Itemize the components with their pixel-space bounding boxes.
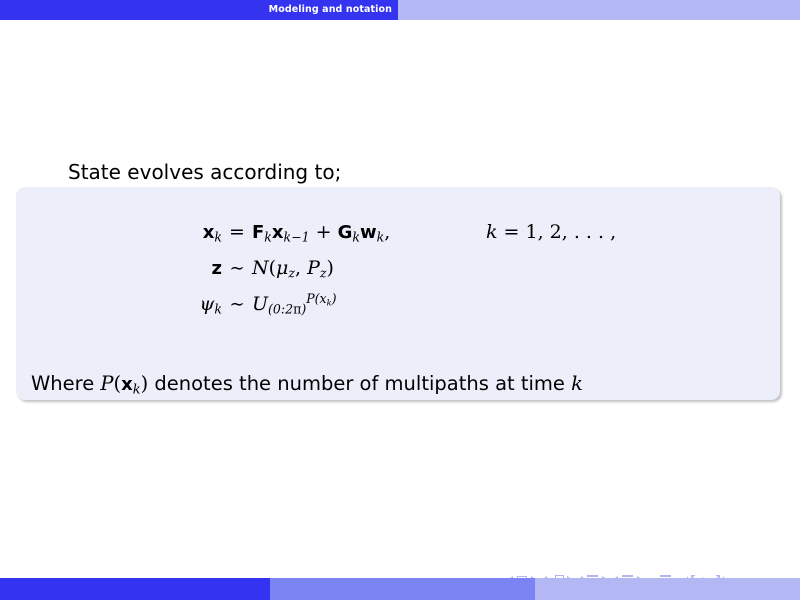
header-title: Modeling and notation [269, 0, 392, 20]
header-right-segment [398, 0, 800, 20]
equation-3-rhs: U(0:2π)P(xk) [252, 293, 337, 315]
equation-1-lhs: xk [16, 221, 222, 243]
slide-header-bar: Modeling and notation [0, 0, 800, 20]
equation-1-relation: = [222, 221, 252, 243]
lead-line: State evolves according to; [68, 160, 341, 184]
where-time-symbol: k [571, 372, 583, 395]
equation-2-relation: ∼ [222, 258, 252, 279]
equation-1-rhs: Fkxk−1 + Gkwk, [252, 221, 390, 243]
where-line: Where P(xk) denotes the number of multip… [31, 372, 583, 395]
slide-body: State evolves according to; xk = Fkxk−1 … [0, 20, 800, 575]
content-block: xk = Fkxk−1 + Gkwk, k = 1, 2, . . . , z … [16, 187, 780, 400]
equation-measurement-distribution: z ∼ N(μz, Pz) [16, 257, 780, 293]
equation-2-rhs: N(μz, Pz) [252, 257, 334, 279]
equation-group: xk = Fkxk−1 + Gkwk, k = 1, 2, . . . , z … [16, 221, 780, 329]
equation-phase-distribution: ψk ∼ U(0:2π)P(xk) [16, 293, 780, 329]
footer-author-segment [0, 578, 270, 600]
footer-date-segment [535, 578, 800, 600]
equation-3-lhs: ψk [16, 293, 222, 315]
equation-state-transition: xk = Fkxk−1 + Gkwk, k = 1, 2, . . . , [16, 221, 780, 257]
where-suffix: denotes the number of multipaths at time [148, 372, 571, 395]
header-left-segment: Modeling and notation [0, 0, 398, 20]
equation-3-relation: ∼ [222, 294, 252, 315]
slide-footer-bar [0, 578, 800, 600]
where-prefix: Where [31, 372, 100, 395]
equation-1-condition: k = 1, 2, . . . , [486, 221, 616, 243]
footer-title-segment [270, 578, 535, 600]
equation-2-lhs: z [16, 257, 222, 279]
where-symbol: P(xk) [100, 372, 148, 395]
